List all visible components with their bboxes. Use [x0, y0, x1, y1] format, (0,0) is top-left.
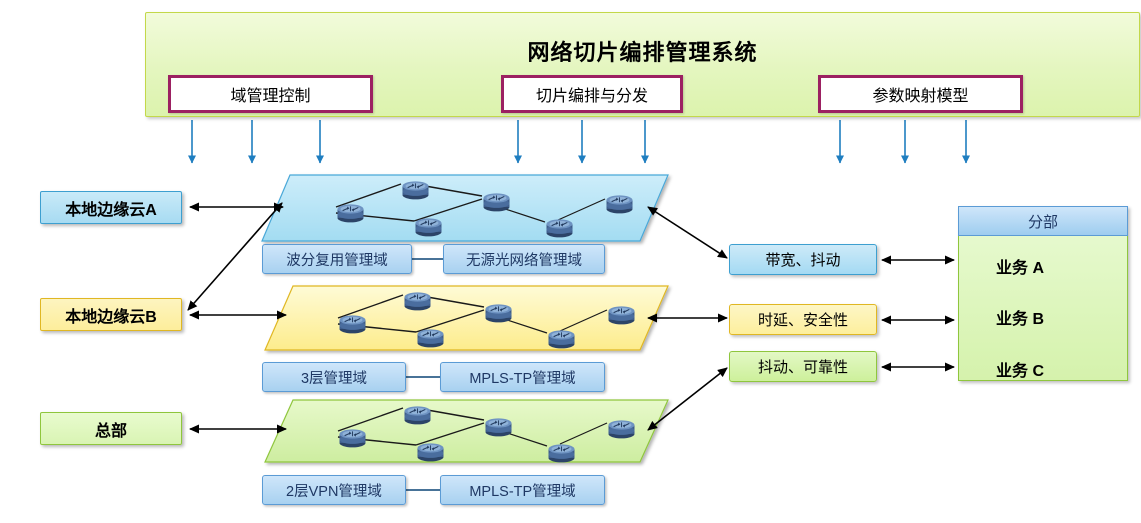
router-icon: [547, 329, 576, 349]
router-icon: [338, 428, 367, 448]
router-icon: [482, 192, 511, 212]
domain-box-wdm[interactable]: 波分复用管理域: [262, 244, 412, 274]
plane-qos-arrows: [648, 207, 727, 430]
router-icon: [484, 303, 513, 323]
module-slice-orchestration[interactable]: 切片编排与分发: [501, 75, 683, 113]
edge-plane-arrows: [188, 203, 286, 429]
router-icon: [401, 180, 430, 200]
orchestration-down-arrows: [192, 120, 966, 163]
router-icon: [336, 203, 365, 223]
domain-box-l2vpn[interactable]: 2层VPN管理域: [262, 475, 406, 505]
router-icon: [605, 194, 634, 214]
router-icon: [416, 442, 445, 462]
router-icon: [545, 218, 574, 238]
branch-panel-header: 分部: [958, 206, 1128, 236]
page-title: 网络切片编排管理系统: [146, 35, 1139, 67]
service-item-c[interactable]: 业务 C: [996, 357, 1044, 381]
domain-box-mplstp-l3[interactable]: MPLS-TP管理域: [440, 362, 605, 392]
qos-box-jitter-reliability[interactable]: 抖动、可靠性: [729, 351, 877, 382]
router-icon: [607, 305, 636, 325]
router-icon: [484, 417, 513, 437]
label-headquarters[interactable]: 总部: [40, 412, 182, 445]
router-icon: [416, 328, 445, 348]
domain-box-l3[interactable]: 3层管理域: [262, 362, 406, 392]
label-local-edge-cloud-b[interactable]: 本地边缘云B: [40, 298, 182, 331]
domain-box-mplstp-l2[interactable]: MPLS-TP管理域: [440, 475, 605, 505]
router-icon: [403, 405, 432, 425]
qos-branch-arrows: [882, 260, 954, 367]
qos-box-latency-security[interactable]: 时延、安全性: [729, 304, 877, 335]
router-icon: [414, 217, 443, 237]
module-domain-control[interactable]: 域管理控制: [168, 75, 373, 113]
router-links-wdm: [336, 184, 605, 222]
label-local-edge-cloud-a[interactable]: 本地边缘云A: [40, 191, 182, 224]
router-icon: [338, 314, 367, 334]
domain-box-pon[interactable]: 无源光网络管理域: [443, 244, 605, 274]
service-item-b[interactable]: 业务 B: [996, 305, 1044, 329]
router-icon: [547, 443, 576, 463]
qos-box-bandwidth-jitter[interactable]: 带宽、抖动: [729, 244, 877, 275]
service-item-a[interactable]: 业务 A: [996, 254, 1044, 278]
router-links-l2vpn: [338, 408, 607, 446]
diagram-canvas: 网络切片编排管理系统 域管理控制 切片编排与分发 参数映射模型 本地边缘云A 本…: [0, 0, 1141, 523]
orchestration-panel: 网络切片编排管理系统 域管理控制 切片编排与分发 参数映射模型: [145, 12, 1140, 117]
module-parameter-mapping[interactable]: 参数映射模型: [818, 75, 1023, 113]
router-icon: [607, 419, 636, 439]
router-icon: [403, 291, 432, 311]
router-links-l3: [338, 295, 607, 333]
